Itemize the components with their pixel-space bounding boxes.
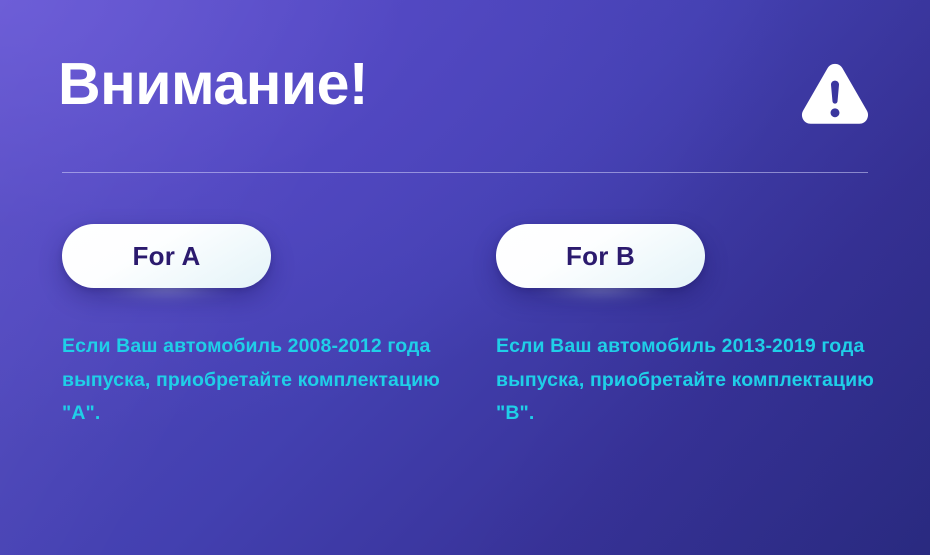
for-a-button[interactable]: For A xyxy=(62,224,271,288)
page-title: Внимание! xyxy=(58,54,368,116)
warning-triangle-icon xyxy=(798,58,872,132)
options-row: For A Если Ваш автомобиль 2008-2012 года… xyxy=(0,224,930,484)
option-a-description: Если Ваш автомобиль 2008-2012 года выпус… xyxy=(62,330,442,431)
for-a-button-label: For A xyxy=(133,243,201,269)
for-b-button-wrapper: For B xyxy=(496,224,705,288)
option-b-description: Если Ваш автомобиль 2013-2019 года выпус… xyxy=(496,330,876,431)
for-b-button[interactable]: For B xyxy=(496,224,705,288)
option-column-a: For A Если Ваш автомобиль 2008-2012 года… xyxy=(62,224,462,431)
attention-banner: Внимание! For A Если Ваш автомобиль 2008… xyxy=(0,0,930,555)
for-b-button-label: For B xyxy=(566,243,635,269)
option-column-b: For B Если Ваш автомобиль 2013-2019 года… xyxy=(496,224,896,431)
for-a-button-wrapper: For A xyxy=(62,224,271,288)
banner-content: Внимание! For A Если Ваш автомобиль 2008… xyxy=(0,0,930,555)
header-divider xyxy=(62,172,868,173)
